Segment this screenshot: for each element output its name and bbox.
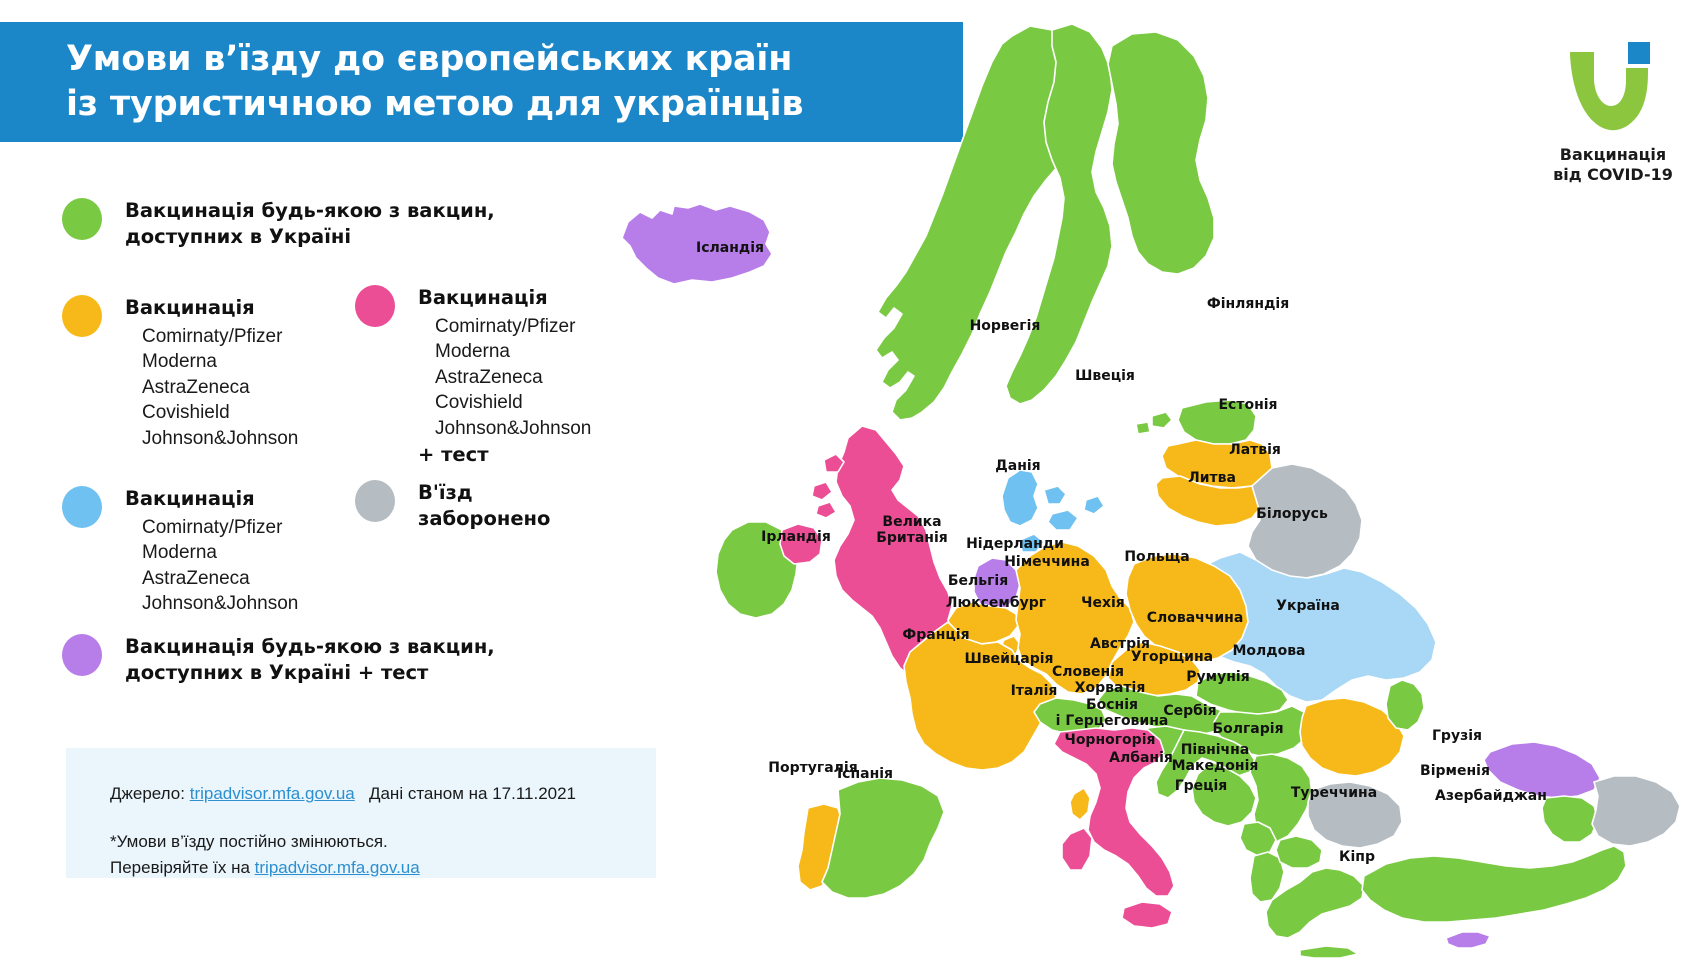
legend-blue-vaccine-list: Comirnaty/Pfizer Moderna AstraZeneca Joh… <box>125 515 362 617</box>
map-label-macedonia-line-2: Македонія <box>1172 758 1259 774</box>
country-moldova[interactable] <box>1386 680 1424 730</box>
map-label-norway: Норвегія <box>970 318 1041 334</box>
country-spain[interactable] <box>822 778 944 898</box>
list-item: Johnson&Johnson <box>142 426 362 451</box>
map-label-ireland: Ірландія <box>761 529 831 545</box>
map-label-macedonia-line-1: Північна <box>1181 742 1250 758</box>
map-label-iceland: Ісландія <box>696 240 764 256</box>
legend-green-heading-line-1: Вакцинація будь-якою з вакцин, <box>125 198 582 224</box>
map-label-montenegro: Чорногорія <box>1065 732 1156 748</box>
map-label-slovakia: Словаччина <box>1147 610 1244 626</box>
legend-item-orange: Вакцинація Comirnaty/Pfizer Moderna Astr… <box>62 295 362 451</box>
map-label-finland: Фінляндія <box>1207 296 1289 312</box>
map-label-luxembourg: Люксембург <box>946 595 1046 611</box>
legend-swatch-blue-icon <box>62 486 102 528</box>
legend-swatch-purple-icon <box>62 634 102 676</box>
source-label: Джерело: <box>110 784 185 803</box>
list-item: AstraZeneca <box>142 566 362 591</box>
map-label-france: Франція <box>902 627 969 643</box>
legend-blue-heading: Вакцинація <box>125 486 362 512</box>
source-date: Дані станом на 17.11.2021 <box>369 784 576 803</box>
legend-swatch-pink-icon <box>355 285 395 327</box>
country-corsica[interactable] <box>1070 788 1090 820</box>
legend: Вакцинація будь-якою з вакцин, доступних… <box>0 190 700 720</box>
country-denmark[interactable] <box>1002 470 1038 526</box>
map-label-bulgaria: Болгарія <box>1212 721 1283 737</box>
map-label-netherlands: Нідерланди <box>966 536 1064 552</box>
list-item: Moderna <box>142 540 362 565</box>
legend-purple-heading-line-2: доступних в Україні + тест <box>125 660 582 686</box>
list-item: Comirnaty/Pfizer <box>142 515 362 540</box>
country-sicily[interactable] <box>1122 902 1172 928</box>
map-label-turkey: Туреччина <box>1291 785 1377 801</box>
source-box: Джерело: tripadvisor.mfa.gov.ua Дані ста… <box>66 748 656 878</box>
legend-gray-heading-line-2: заборонено <box>418 506 615 532</box>
list-item: Johnson&Johnson <box>142 591 362 616</box>
map-label-slovenia: Словенія <box>1052 664 1124 680</box>
legend-purple-heading-line-1: Вакцинація будь-якою з вакцин, <box>125 634 582 660</box>
country-cyprus[interactable] <box>1446 932 1490 948</box>
legend-swatch-gray-icon <box>355 480 395 522</box>
map-label-armenia: Вірменія <box>1420 763 1490 779</box>
country-finland[interactable] <box>1108 32 1214 274</box>
country-crete[interactable] <box>1300 946 1358 958</box>
legend-swatch-green-icon <box>62 198 102 240</box>
map-label-belarus: Білорусь <box>1256 506 1328 522</box>
map-label-cyprus: Кіпр <box>1339 849 1375 865</box>
source-note: *Умови в’їзду постійно змінюються. Перев… <box>110 829 420 880</box>
map-label-germany: Німеччина <box>1004 554 1090 570</box>
map-label-denmark: Данія <box>995 458 1040 474</box>
legend-item-blue: Вакцинація Comirnaty/Pfizer Moderna Astr… <box>62 486 362 617</box>
map-label-czechia: Чехія <box>1081 595 1125 611</box>
legend-swatch-orange-icon <box>62 295 102 337</box>
map-label-sweden: Швеція <box>1075 368 1135 384</box>
map-label-croatia: Хорватія <box>1075 680 1146 696</box>
europe-map: Ісландія Норвегія Швеція Фінляндія Данія… <box>600 0 1707 960</box>
map-label-serbia: Сербія <box>1163 703 1216 719</box>
source-link[interactable]: tripadvisor.mfa.gov.ua <box>190 784 355 803</box>
legend-green-heading: Вакцинація будь-якою з вакцин, доступних… <box>125 198 582 249</box>
legend-gray-heading: В'їзд заборонено <box>418 480 615 531</box>
legend-purple-heading: Вакцинація будь-якою з вакцин, доступних… <box>125 634 582 685</box>
legend-orange-heading-line-1: Вакцинація <box>125 295 362 321</box>
source-line: Джерело: tripadvisor.mfa.gov.ua Дані ста… <box>110 781 576 807</box>
country-sardinia[interactable] <box>1062 828 1092 870</box>
legend-blue-heading-line-1: Вакцинація <box>125 486 362 512</box>
map-label-albania: Албанія <box>1109 750 1173 766</box>
list-item: Covishield <box>142 400 362 425</box>
map-label-romania: Румунія <box>1186 669 1249 685</box>
source-note-prefix: Перевіряйте їх на <box>110 858 255 877</box>
map-label-lithuania: Литва <box>1188 470 1236 486</box>
source-note-line-2: Перевіряйте їх на tripadvisor.mfa.gov.ua <box>110 855 420 881</box>
map-label-azerbaijan: Азербайджан <box>1435 788 1547 804</box>
legend-orange-vaccine-list: Comirnaty/Pfizer Moderna AstraZeneca Cov… <box>125 324 362 451</box>
map-label-greece: Греція <box>1175 778 1228 794</box>
legend-gray-heading-line-1: В'їзд <box>418 480 615 506</box>
map-label-switzerland: Швейцарія <box>964 651 1053 667</box>
country-estonia-islands[interactable] <box>1136 412 1172 434</box>
infographic-root: Умови в’їзду до європейських країн із ту… <box>0 0 1707 960</box>
legend-orange-heading: Вакцинація <box>125 295 362 321</box>
country-azerbaijan[interactable] <box>1592 776 1680 846</box>
legend-item-green: Вакцинація будь-якою з вакцин, доступних… <box>62 198 582 249</box>
legend-item-purple: Вакцинація будь-якою з вакцин, доступних… <box>62 634 582 685</box>
country-turkey[interactable] <box>1362 846 1626 922</box>
map-label-uk-line-1: Велика <box>882 514 941 530</box>
map-label-spain: Іспанія <box>837 766 893 782</box>
legend-item-gray: В'їзд заборонено <box>355 480 615 531</box>
legend-green-heading-line-2: доступних в Україні <box>125 224 582 250</box>
list-item: Moderna <box>142 349 362 374</box>
list-item: Comirnaty/Pfizer <box>142 324 362 349</box>
source-note-link[interactable]: tripadvisor.mfa.gov.ua <box>255 858 420 877</box>
map-label-poland: Польща <box>1124 549 1189 565</box>
map-label-moldova: Молдова <box>1232 643 1305 659</box>
country-armenia[interactable] <box>1542 796 1598 842</box>
map-label-estonia: Естонія <box>1218 397 1277 413</box>
country-north-macedonia[interactable] <box>1276 836 1322 868</box>
list-item: AstraZeneca <box>142 375 362 400</box>
map-label-uk-line-2: Британія <box>876 530 948 546</box>
map-label-latvia: Латвія <box>1229 442 1281 458</box>
map-label-italy: Італія <box>1011 683 1058 699</box>
map-label-bosnia-line-1: Боснія <box>1086 697 1138 713</box>
map-label-hungary: Угорщина <box>1131 649 1213 665</box>
map-label-ukraine: Україна <box>1276 598 1340 614</box>
map-label-georgia: Грузія <box>1432 728 1482 744</box>
map-label-bosnia-line-2: і Герцеговина <box>1056 713 1169 729</box>
source-note-line-1: *Умови в’їзду постійно змінюються. <box>110 829 420 855</box>
map-label-belgium: Бельгія <box>948 573 1008 589</box>
